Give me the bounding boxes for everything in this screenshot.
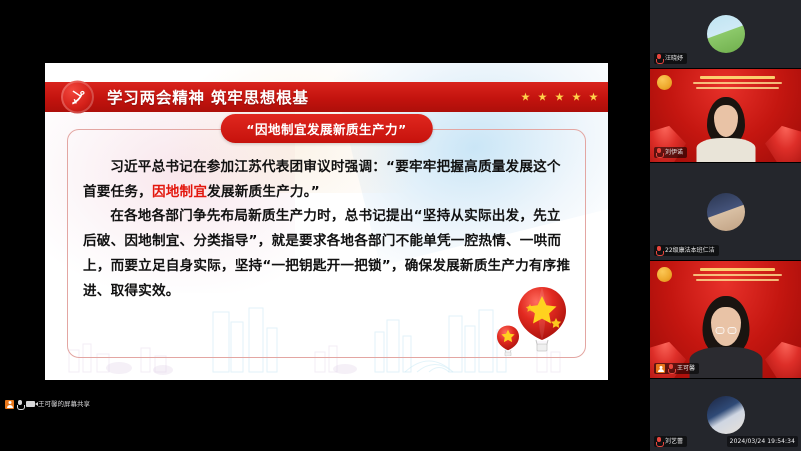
slide-banner: 学习两会精神 筑牢思想根基 xyxy=(45,82,608,112)
participant-name-label: 王可馨 xyxy=(677,364,695,373)
star-icon xyxy=(572,93,581,102)
microphone-muted-icon xyxy=(656,148,662,157)
meeting-timestamp: 2024/03/24 19:54:34 xyxy=(727,436,798,447)
slide-paragraph: 习近平总书记在参加江苏代表团审议时强调：“要牢牢把握高质量发展这个首要任务，因地… xyxy=(83,155,572,204)
participant-name-chip: 王可馨 xyxy=(654,363,699,374)
participant-name-label: 22级康法本班仁洁 xyxy=(665,246,715,255)
banner-star-row xyxy=(521,93,598,102)
screen-share-owner-chip: 王可馨的屏幕共享 xyxy=(4,398,94,410)
torso xyxy=(689,347,762,378)
highlighted-phrase: 因地制宜 xyxy=(152,184,207,200)
participant-tile[interactable]: 22级康法本班仁洁 xyxy=(650,162,801,260)
party-emblem-icon xyxy=(61,81,94,114)
backdrop-text-lines xyxy=(689,268,786,284)
participant-name-chip: 刘艺蕾 xyxy=(654,436,687,447)
microphone-muted-icon xyxy=(656,54,662,63)
participant-tile[interactable]: 王可馨 xyxy=(650,260,801,378)
avatar xyxy=(707,396,745,434)
slide-paragraph: 在各地各部门争先布局新质生产力时，总书记提出“坚持从实际出发，先立后破、因地制宜… xyxy=(83,204,572,303)
microphone-muted-icon xyxy=(656,246,662,255)
camera-icon xyxy=(26,401,35,407)
participant-name-label: 汪晓妤 xyxy=(665,54,683,63)
backdrop-text-lines xyxy=(689,76,786,92)
star-icon xyxy=(538,93,547,102)
hot-air-balloon-icon xyxy=(496,325,520,356)
red-drape-decoration xyxy=(765,334,801,378)
participant-name-chip: 汪晓妤 xyxy=(654,53,687,64)
participant-name-label: 刘伊诺 xyxy=(665,148,683,157)
screen-share-owner-label: 王可馨的屏幕共享 xyxy=(38,399,90,409)
glasses-icon xyxy=(715,327,736,334)
participant-rail[interactable]: 汪晓妤刘伊诺22级康法本班仁洁王可馨刘艺蕾 xyxy=(650,0,801,451)
host-badge-icon xyxy=(656,364,665,373)
star-icon xyxy=(555,93,564,102)
shared-screen-stage[interactable]: 学习两会精神 筑牢思想根基 “因地制宜发展新质生产力” 习近平总书记在参加江苏代… xyxy=(0,0,650,451)
slide-section-title: “因地制宜发展新质生产力” xyxy=(220,114,432,143)
avatar xyxy=(707,15,745,53)
participant-name-chip: 22级康法本班仁洁 xyxy=(654,245,719,256)
star-icon xyxy=(589,93,598,102)
participant-person xyxy=(694,94,758,162)
paragraph-text: 发展新质生产力。” xyxy=(207,184,320,200)
slide-banner-title: 学习两会精神 筑牢思想根基 xyxy=(107,86,309,108)
participant-name-label: 刘艺蕾 xyxy=(665,437,683,446)
microphone-icon xyxy=(17,400,23,409)
participant-video-feed xyxy=(650,261,801,378)
participant-tile[interactable]: 刘伊诺 xyxy=(650,68,801,162)
red-drape-decoration xyxy=(765,118,801,162)
avatar xyxy=(707,193,745,231)
participant-tile[interactable]: 汪晓妤 xyxy=(650,0,801,68)
star-icon xyxy=(521,93,530,102)
presentation-slide: 学习两会精神 筑牢思想根基 “因地制宜发展新质生产力” 习近平总书记在参加江苏代… xyxy=(45,63,608,380)
paragraph-text: 在各地各部门争先布局新质生产力时，总书记提出“坚持从实际出发，先立后破、因地制宜… xyxy=(83,208,570,298)
screen-share-meeting-window: 学习两会精神 筑牢思想根基 “因地制宜发展新质生产力” 习近平总书记在参加江苏代… xyxy=(0,0,801,451)
microphone-muted-icon xyxy=(656,437,662,446)
party-emblem-icon xyxy=(657,267,672,282)
host-badge-icon xyxy=(5,400,14,409)
participant-name-chip: 刘伊诺 xyxy=(654,147,687,158)
torso xyxy=(696,138,755,162)
slide-body-text: 习近平总书记在参加江苏代表团审议时强调：“要牢牢把握高质量发展这个首要任务，因地… xyxy=(83,155,572,303)
party-emblem-icon xyxy=(657,75,672,90)
microphone-muted-icon xyxy=(668,364,674,373)
